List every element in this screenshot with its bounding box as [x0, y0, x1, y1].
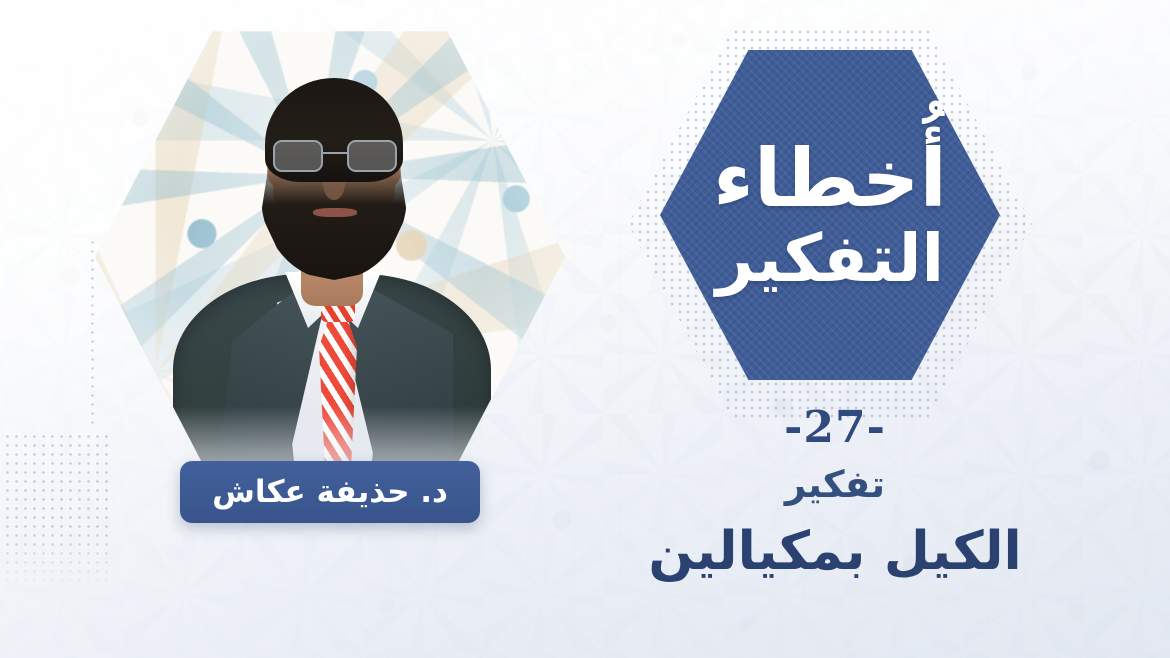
episode-number: -27- — [600, 406, 1070, 450]
episode-info: -27- تفكير الكيل بمكيالين — [600, 406, 1070, 585]
lens-left — [273, 140, 323, 172]
speaker-portrait — [95, 22, 565, 492]
speaker-name-banner: د. حذيفة عكاش — [180, 461, 480, 523]
mouth — [313, 208, 357, 217]
lens-bridge — [323, 152, 347, 154]
speaker-name-label: د. حذيفة عكاش — [212, 477, 448, 508]
episode-title: الكيل بمكيالين — [600, 520, 1070, 585]
eyeglasses-icon — [271, 140, 399, 174]
speaker-photo — [95, 22, 565, 492]
episode-kind: تفكير — [600, 462, 1070, 508]
hexagon-portrait-frame-icon — [95, 22, 565, 492]
series-title-line1: أُخطاء — [713, 138, 947, 220]
lens-right — [347, 140, 397, 172]
series-title-line2: التفكير — [716, 225, 944, 292]
slide-canvas: د. حذيفة عكاش أُخطاء التفكير -27- تفكير … — [0, 0, 1170, 658]
